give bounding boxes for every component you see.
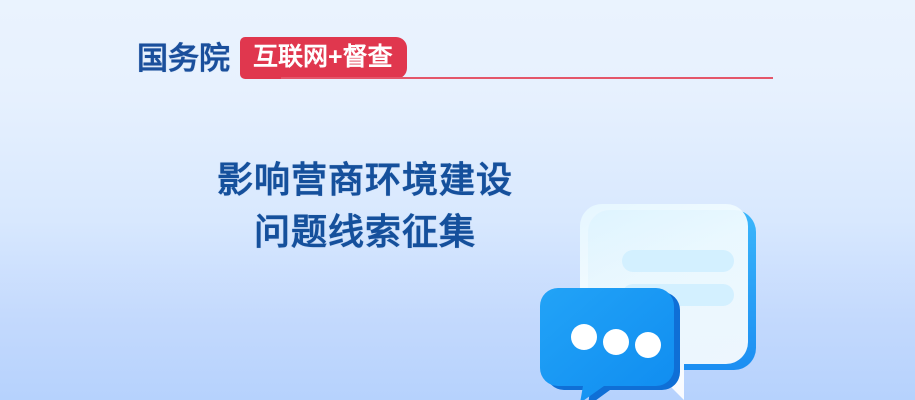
dot-3 [635,332,661,358]
header-divider-line [281,77,773,79]
promo-banner: 国务院 互联网+督查 影响营商环境建设 问题线索征集 [0,0,915,400]
channel-badge: 互联网+督查 [240,37,407,79]
dot-1 [571,324,597,350]
dot-2 [603,329,629,355]
chat-bubbles-illustration [540,196,810,400]
text-bar-1 [622,250,734,272]
banner-header: 国务院 互联网+督查 [137,36,407,80]
organization-name: 国务院 [137,43,230,74]
